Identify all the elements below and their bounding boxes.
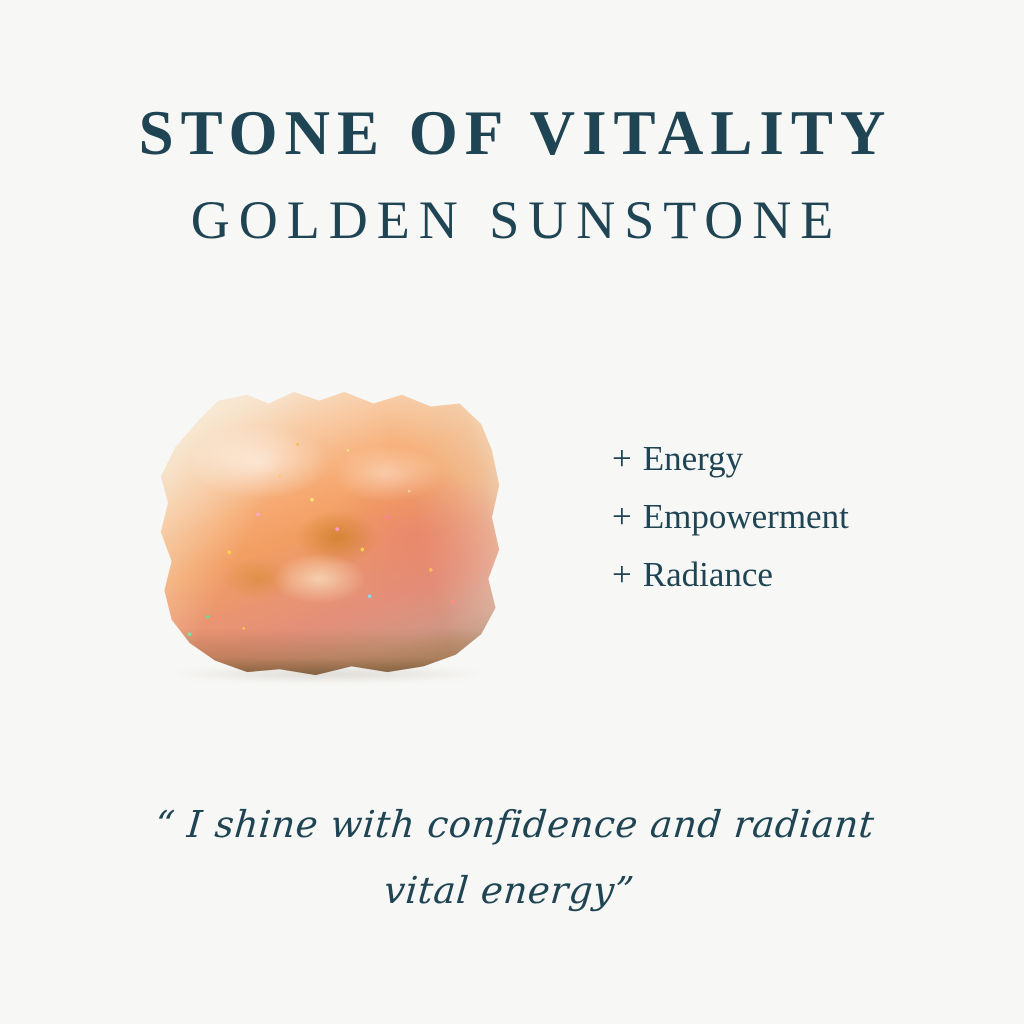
crystal-image-container: [150, 386, 510, 678]
page-title: STONE OF VITALITY: [0, 100, 1024, 166]
plus-icon: +: [612, 430, 632, 488]
affirmation-quote: “ I shine with confidence and radiant vi…: [106, 792, 918, 924]
page-subtitle: GOLDEN SUNSTONE: [0, 192, 1024, 249]
poster-header: STONE OF VITALITY GOLDEN SUNSTONE: [0, 100, 1024, 249]
list-item: +Radiance: [612, 546, 972, 604]
list-item: +Empowerment: [612, 488, 972, 546]
plus-icon: +: [612, 546, 632, 604]
list-item: +Energy: [612, 430, 972, 488]
stone-of-vitality-poster: STONE OF VITALITY GOLDEN SUNSTONE +Energ…: [0, 0, 1024, 1024]
crystal-shadow: [168, 666, 488, 682]
plus-icon: +: [612, 488, 632, 546]
benefits-list: +Energy +Empowerment +Radiance: [612, 430, 972, 604]
benefit-label: Empowerment: [643, 497, 849, 536]
benefit-label: Energy: [643, 439, 743, 478]
benefit-label: Radiance: [643, 555, 773, 594]
golden-sunstone-crystal-icon: [150, 386, 510, 678]
